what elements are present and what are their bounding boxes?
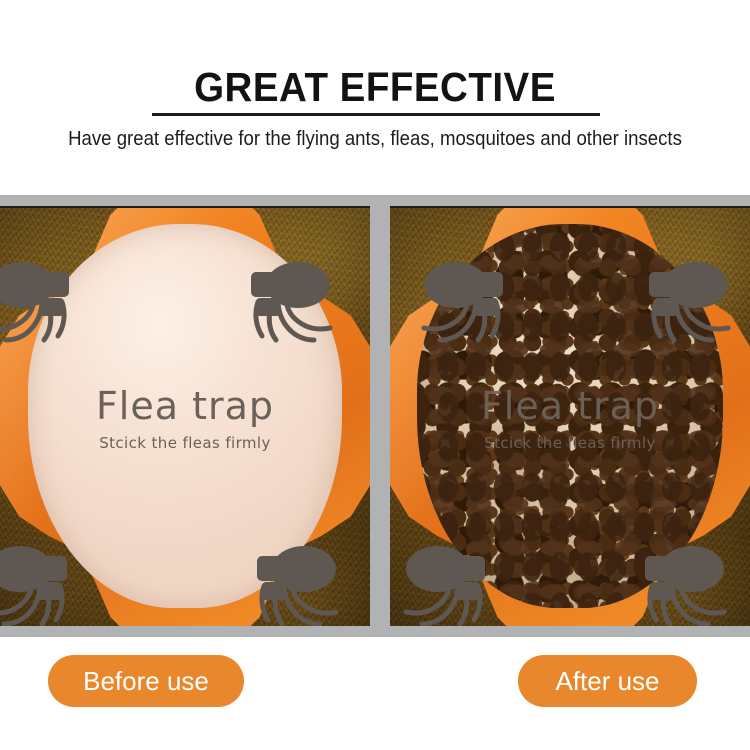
after-use-label: After use [518,655,697,707]
flea-icon [626,536,730,626]
photo-edge-line [0,206,370,208]
page-subtitle: Have great effective for the flying ants… [26,128,724,151]
flea-icon [630,252,734,344]
header-section: GREAT EFFECTIVE Have great effective for… [0,0,750,195]
before-use-label: Before use [48,655,244,707]
flea-icon [0,252,88,344]
product-infographic: GREAT EFFECTIVE Have great effective for… [0,0,750,750]
flea-icon [400,536,504,626]
comparison-photo-strip: Flea trap Stcick the fleas firmly [0,195,750,637]
strip-divider [370,195,390,637]
after-photo: Flea trap Stcick the fleas firmly [390,206,750,626]
before-photo: Flea trap Stcick the fleas firmly [0,206,370,626]
flea-icon [232,252,336,344]
page-title: GREAT EFFECTIVE [23,64,728,111]
title-underline [152,113,600,116]
flea-icon [238,536,342,626]
flea-icon [0,536,86,626]
flea-icon [418,252,522,344]
photo-edge-line [390,206,750,208]
